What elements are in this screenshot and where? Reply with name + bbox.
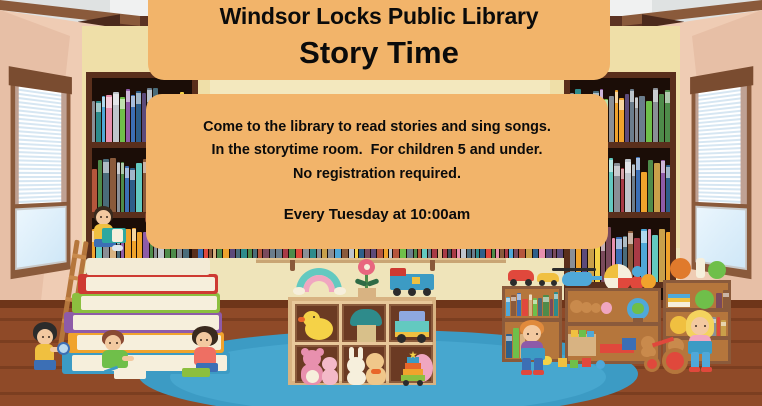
floor-toy-block <box>582 358 591 367</box>
book-spine-label <box>635 98 638 108</box>
book-spine <box>125 166 129 212</box>
book-spine-label <box>625 162 631 174</box>
toy-cubby-shelf <box>288 297 436 385</box>
cubby-cell <box>342 304 386 342</box>
book-spine-label <box>96 103 101 112</box>
book-spine <box>543 295 549 316</box>
child-seated-shelf-left <box>516 320 556 376</box>
book-spine <box>102 96 105 142</box>
book-spine-label <box>619 100 624 110</box>
book-spine-label <box>665 92 670 103</box>
book-spine <box>110 158 116 212</box>
book-spine-label <box>616 239 622 249</box>
window-blinds <box>698 83 741 205</box>
title-card: Windsor Locks Public Library Story Time <box>148 0 610 80</box>
stacking-rings-2 <box>403 369 423 375</box>
event-title: Story Time <box>299 37 459 68</box>
eye <box>116 342 118 344</box>
cubby-cell <box>389 304 433 342</box>
book-spine-label <box>506 336 512 341</box>
book-spine <box>636 157 640 212</box>
duck-eye <box>313 316 315 318</box>
book-spine-label <box>131 96 135 106</box>
book-spine <box>103 159 109 212</box>
stacked-books-flat <box>668 294 690 298</box>
storytime-poster: Windsor Locks Public Library Story Time … <box>0 0 762 406</box>
cubby-cell <box>389 345 433 383</box>
head <box>96 210 111 225</box>
head <box>523 325 541 342</box>
cloud-right <box>334 287 346 295</box>
floor-toy-block <box>570 360 578 368</box>
rubber-duck-head <box>303 311 320 327</box>
cubby-cell <box>342 345 386 383</box>
cubby-cell <box>295 345 339 383</box>
book-spine-label <box>511 297 516 302</box>
book-spine <box>506 297 510 316</box>
book-spine <box>621 168 624 212</box>
book-spine-label <box>120 99 125 109</box>
stacked-books-flat <box>668 302 690 307</box>
book-spine-label <box>723 293 729 297</box>
book-spine <box>619 98 624 142</box>
train-cab <box>390 268 406 276</box>
book-spine-label <box>630 91 634 103</box>
event-schedule: Every Tuesday at 10:00am <box>284 206 471 223</box>
book-spine <box>130 168 135 212</box>
book-spine-label <box>609 160 613 172</box>
book-spine <box>654 163 660 212</box>
book-spine <box>716 293 722 308</box>
info-card: Come to the library to read stories and … <box>146 94 608 249</box>
piglet-body <box>322 369 338 385</box>
green-apple <box>708 261 726 279</box>
book-spine <box>659 229 665 282</box>
book-spine-label <box>661 161 665 172</box>
truck-wheel <box>417 334 426 343</box>
book-pages <box>86 277 215 291</box>
arm <box>122 356 134 361</box>
book-spine <box>666 232 670 282</box>
window-upper-pane <box>695 82 746 205</box>
book-spine <box>538 298 542 316</box>
book-spine <box>641 172 647 212</box>
book-spine-label <box>653 90 658 102</box>
eye <box>704 325 706 327</box>
book-spine <box>126 89 130 142</box>
shelf-plank <box>567 322 659 326</box>
head <box>105 335 121 351</box>
eye <box>206 339 208 341</box>
book-spine <box>653 88 658 142</box>
eye <box>109 342 111 344</box>
head <box>37 329 53 345</box>
ball-orange-small <box>641 274 656 289</box>
car-wheel <box>525 279 532 286</box>
child-with-magnifier <box>30 322 70 380</box>
wall-peg <box>290 260 295 271</box>
info-line: No registration required. <box>293 163 461 186</box>
eye <box>106 216 108 218</box>
shoe <box>533 370 544 375</box>
book-spine-label <box>132 229 136 241</box>
book-spine-label <box>628 233 633 244</box>
eye <box>200 339 202 341</box>
potted-plant-leaves <box>350 309 382 326</box>
info-line: In the storytime room. For children 5 an… <box>211 139 542 162</box>
book-spine-label <box>117 163 120 174</box>
train-wheel <box>408 288 416 296</box>
train-engine <box>622 338 636 350</box>
book-spine <box>533 298 537 316</box>
book-page <box>112 229 123 242</box>
window-blinds <box>19 82 62 204</box>
book-spine-label <box>113 94 119 105</box>
eye <box>100 216 102 218</box>
book-spine <box>614 163 620 212</box>
closed-book <box>182 368 210 377</box>
book-spine <box>615 90 618 142</box>
book-spine <box>625 159 631 212</box>
stacked-book <box>72 293 220 313</box>
eye <box>695 325 697 327</box>
book-spine-label <box>623 237 627 247</box>
book-spine <box>648 160 653 212</box>
cubby-cell <box>295 304 339 342</box>
shoe <box>521 370 532 375</box>
floor-toy-ball <box>596 360 605 369</box>
child-kneeling-right <box>188 326 232 382</box>
info-line: Come to the library to read stories and … <box>203 116 551 139</box>
flower-pot <box>358 288 376 297</box>
bear-ear <box>316 348 324 356</box>
small-shelf-books <box>716 290 729 308</box>
book-spine-label <box>641 231 647 243</box>
open-notebook <box>114 368 146 379</box>
book-spine <box>550 299 553 316</box>
child-writing <box>96 330 146 382</box>
book-spine-label <box>126 91 130 103</box>
wall-peg <box>430 260 435 271</box>
bottle <box>696 258 705 278</box>
book-spine-label <box>632 165 635 176</box>
globe-stand <box>633 318 643 322</box>
book-spine <box>666 165 670 212</box>
bunny-plush-body <box>347 371 366 385</box>
book-spine-label <box>666 167 670 177</box>
book-spine-label <box>517 294 521 299</box>
book-spine <box>646 101 652 142</box>
book-spine <box>635 97 638 142</box>
head <box>196 332 212 348</box>
book-spine <box>106 95 112 142</box>
ring-wheel <box>403 380 409 386</box>
shoe <box>689 367 700 372</box>
cloud-left <box>293 287 305 295</box>
eye <box>42 336 44 338</box>
book-spine <box>517 293 521 316</box>
book-spine <box>98 160 102 212</box>
train-wheel <box>393 288 401 296</box>
book-spine <box>639 96 645 142</box>
ball-blue-small <box>632 266 643 277</box>
book-spine <box>506 334 512 358</box>
book-spine <box>121 162 124 212</box>
book-spine <box>529 294 532 316</box>
stacking-rings-4 <box>407 357 419 363</box>
toy-block <box>587 331 594 337</box>
child-reading-top-left <box>88 206 124 260</box>
book-spine-label <box>621 169 624 179</box>
book-spine-label <box>125 168 129 178</box>
teddy-bear <box>591 303 601 313</box>
toy-blocks-box <box>568 334 596 356</box>
flower-center <box>364 264 370 270</box>
book-spine <box>136 91 141 142</box>
basketball <box>670 258 691 279</box>
book-spine <box>113 92 119 142</box>
window-upper-pane <box>15 82 66 205</box>
book-spine <box>625 94 629 142</box>
train-wheel <box>423 288 431 296</box>
book-spine-label <box>102 97 105 107</box>
shoe <box>701 367 712 372</box>
book-spine-label <box>121 163 124 174</box>
truck-wheel <box>397 334 406 343</box>
book-spine <box>96 101 101 142</box>
library-name: Windsor Locks Public Library <box>220 4 539 28</box>
helicopter-tail <box>588 276 602 280</box>
ring-wheel <box>417 380 423 386</box>
book-spine <box>665 90 670 142</box>
eye <box>536 333 538 335</box>
eye <box>48 336 50 338</box>
book-spine <box>554 292 558 316</box>
bear-bow <box>371 369 381 374</box>
child-standing-blonde <box>684 310 724 376</box>
stacked-book <box>78 274 218 294</box>
plant-pot <box>357 325 376 342</box>
book-spine <box>659 94 664 142</box>
bowling-ball <box>695 290 714 309</box>
shoe <box>112 245 123 251</box>
book-spine <box>92 101 95 142</box>
window-right <box>692 73 752 279</box>
book-spine-label <box>615 92 618 103</box>
globe-continent <box>632 303 644 314</box>
book-spine-label <box>106 97 112 107</box>
car-wheel <box>510 279 517 286</box>
book-spine <box>609 96 614 142</box>
toy-block <box>571 330 578 337</box>
head <box>691 317 709 335</box>
window-left <box>11 73 71 279</box>
book-spine <box>630 89 634 142</box>
book-spine <box>131 95 135 142</box>
doll-plush <box>601 302 612 314</box>
book-pages <box>81 296 217 310</box>
toy-block <box>579 330 586 337</box>
book-spine-label <box>136 93 141 104</box>
book-spine <box>723 290 729 308</box>
book-spine-label <box>529 295 532 300</box>
book-spine-label <box>533 300 537 304</box>
helicopter-rotor <box>552 268 596 271</box>
eye <box>527 333 529 335</box>
book-spine-label <box>636 158 640 170</box>
leg <box>34 360 56 370</box>
book-spine <box>511 295 516 316</box>
book-spine <box>117 162 120 212</box>
book-spine <box>136 163 142 212</box>
tricycle-wheel-small <box>644 356 660 372</box>
bear-belly <box>306 370 319 383</box>
book-spine <box>120 97 125 142</box>
book-spine-label <box>614 166 620 177</box>
small-shelf-books <box>506 292 558 316</box>
book-spine <box>609 158 613 212</box>
stacking-rings-3 <box>405 363 421 369</box>
book-spine <box>632 164 635 212</box>
book-spine <box>522 299 528 316</box>
train-window <box>412 277 420 284</box>
duck-beak <box>298 317 305 322</box>
book-spine-label <box>554 294 558 299</box>
magnifying-glass <box>57 342 70 355</box>
bear-ear <box>301 348 309 356</box>
stacked-book <box>86 258 210 275</box>
book-spine <box>661 160 665 212</box>
book-spine-label <box>130 170 135 180</box>
floor-toy-block <box>558 358 567 367</box>
book-spine-label <box>103 162 109 174</box>
book-spine-label <box>506 298 510 302</box>
book-spine-label <box>543 297 549 302</box>
